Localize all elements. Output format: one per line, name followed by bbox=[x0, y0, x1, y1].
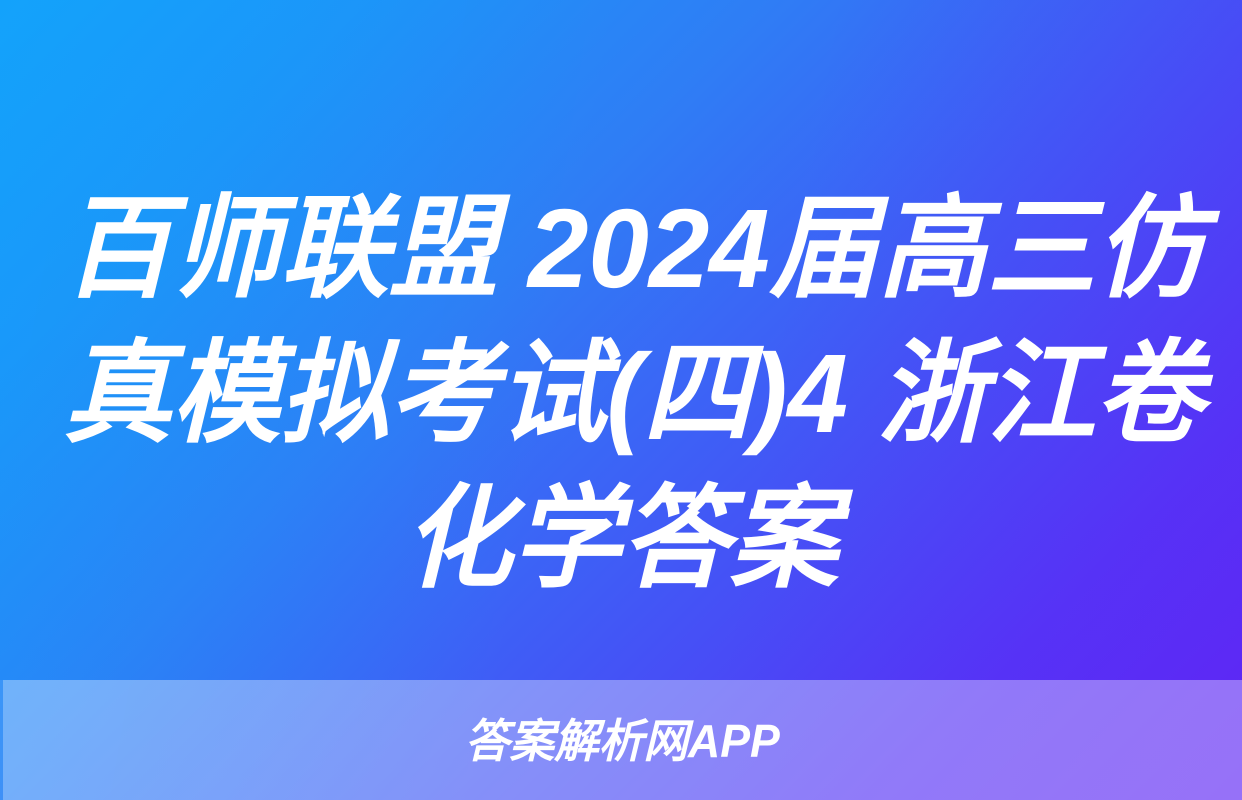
footer-band-left-edge bbox=[0, 680, 3, 800]
footer-band: 答案解析网APP bbox=[3, 680, 1242, 800]
title-line-2: 真模拟考试(四)4 浙江卷 bbox=[63, 321, 1179, 466]
page-title: 百师联盟 2024届高三仿 真模拟考试(四)4 浙江卷 化学答案 bbox=[0, 176, 1242, 611]
footer-brand-label: 答案解析网APP bbox=[465, 715, 780, 767]
title-line-1: 百师联盟 2024届高三仿 bbox=[63, 176, 1179, 321]
title-line-3: 化学答案 bbox=[63, 466, 1179, 611]
promo-card: 百师联盟 2024届高三仿 真模拟考试(四)4 浙江卷 化学答案 答案解析网AP… bbox=[0, 0, 1242, 800]
